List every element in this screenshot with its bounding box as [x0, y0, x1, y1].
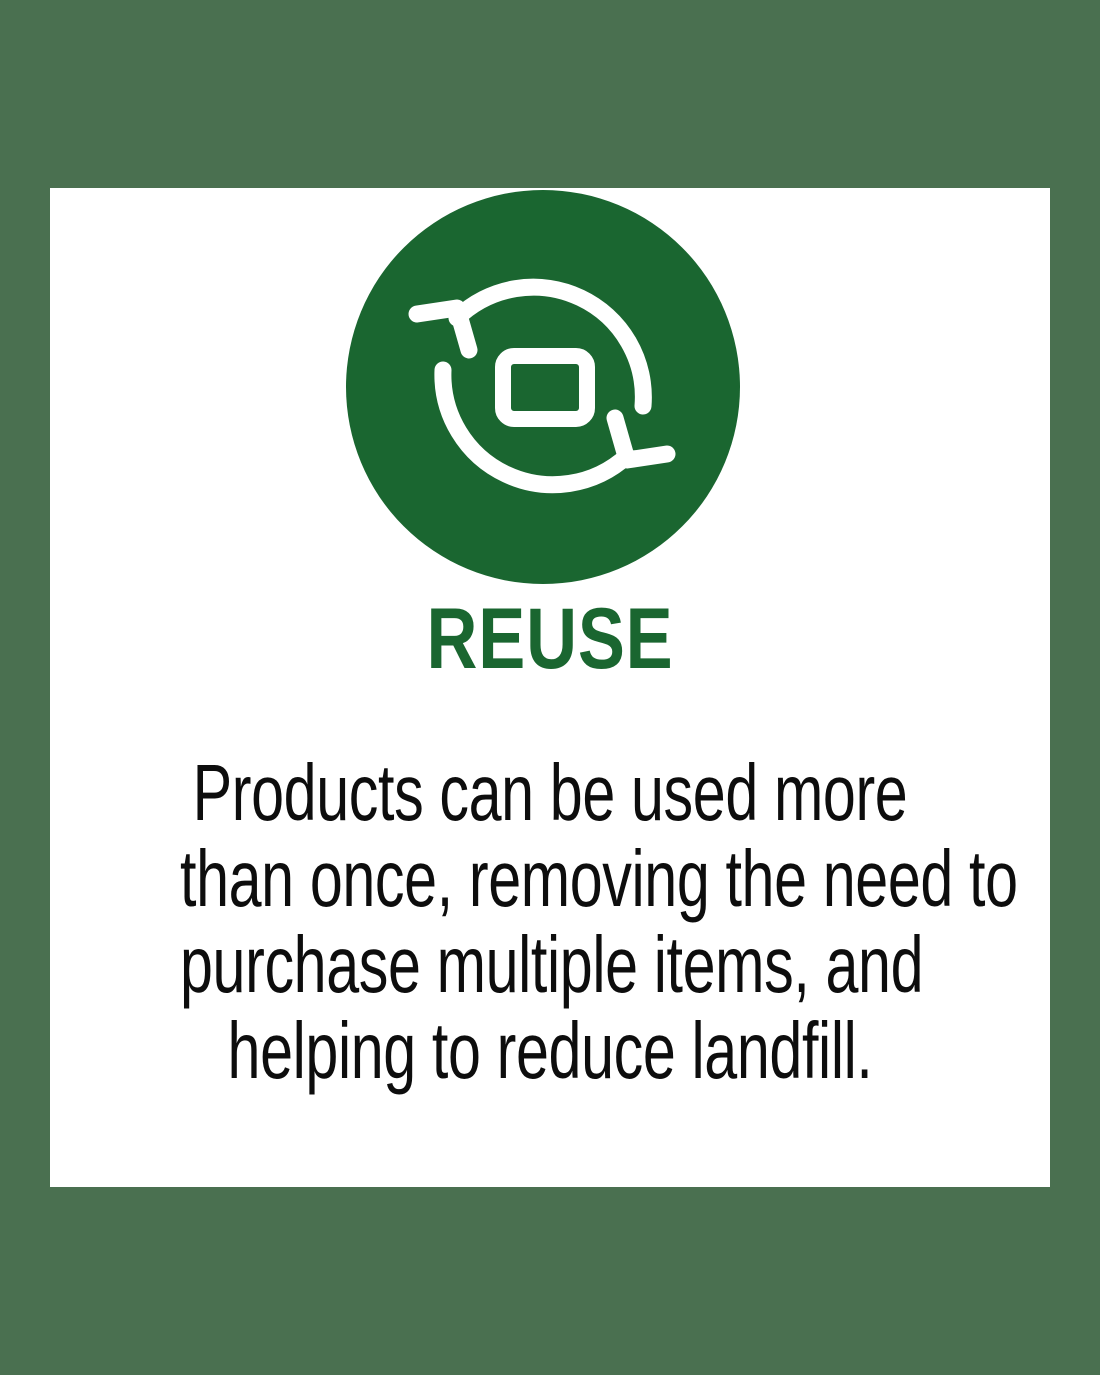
page-title: REUSE [140, 596, 960, 682]
icon-badge-circle [346, 190, 740, 584]
body-line-3: purchase multiple items, and [180, 922, 920, 1008]
reuse-info-card: REUSE Products can be used more than onc… [50, 188, 1050, 1187]
body-paragraph: Products can be used more than once, rem… [50, 750, 1050, 1094]
body-line-1: Products can be used more [180, 750, 920, 836]
page-root: REUSE Products can be used more than onc… [0, 0, 1100, 1375]
reuse-cycle-icon [345, 190, 741, 584]
body-line-2: than once, removing the need to [180, 836, 920, 922]
body-line-4: helping to reduce landfill. [180, 1008, 920, 1094]
